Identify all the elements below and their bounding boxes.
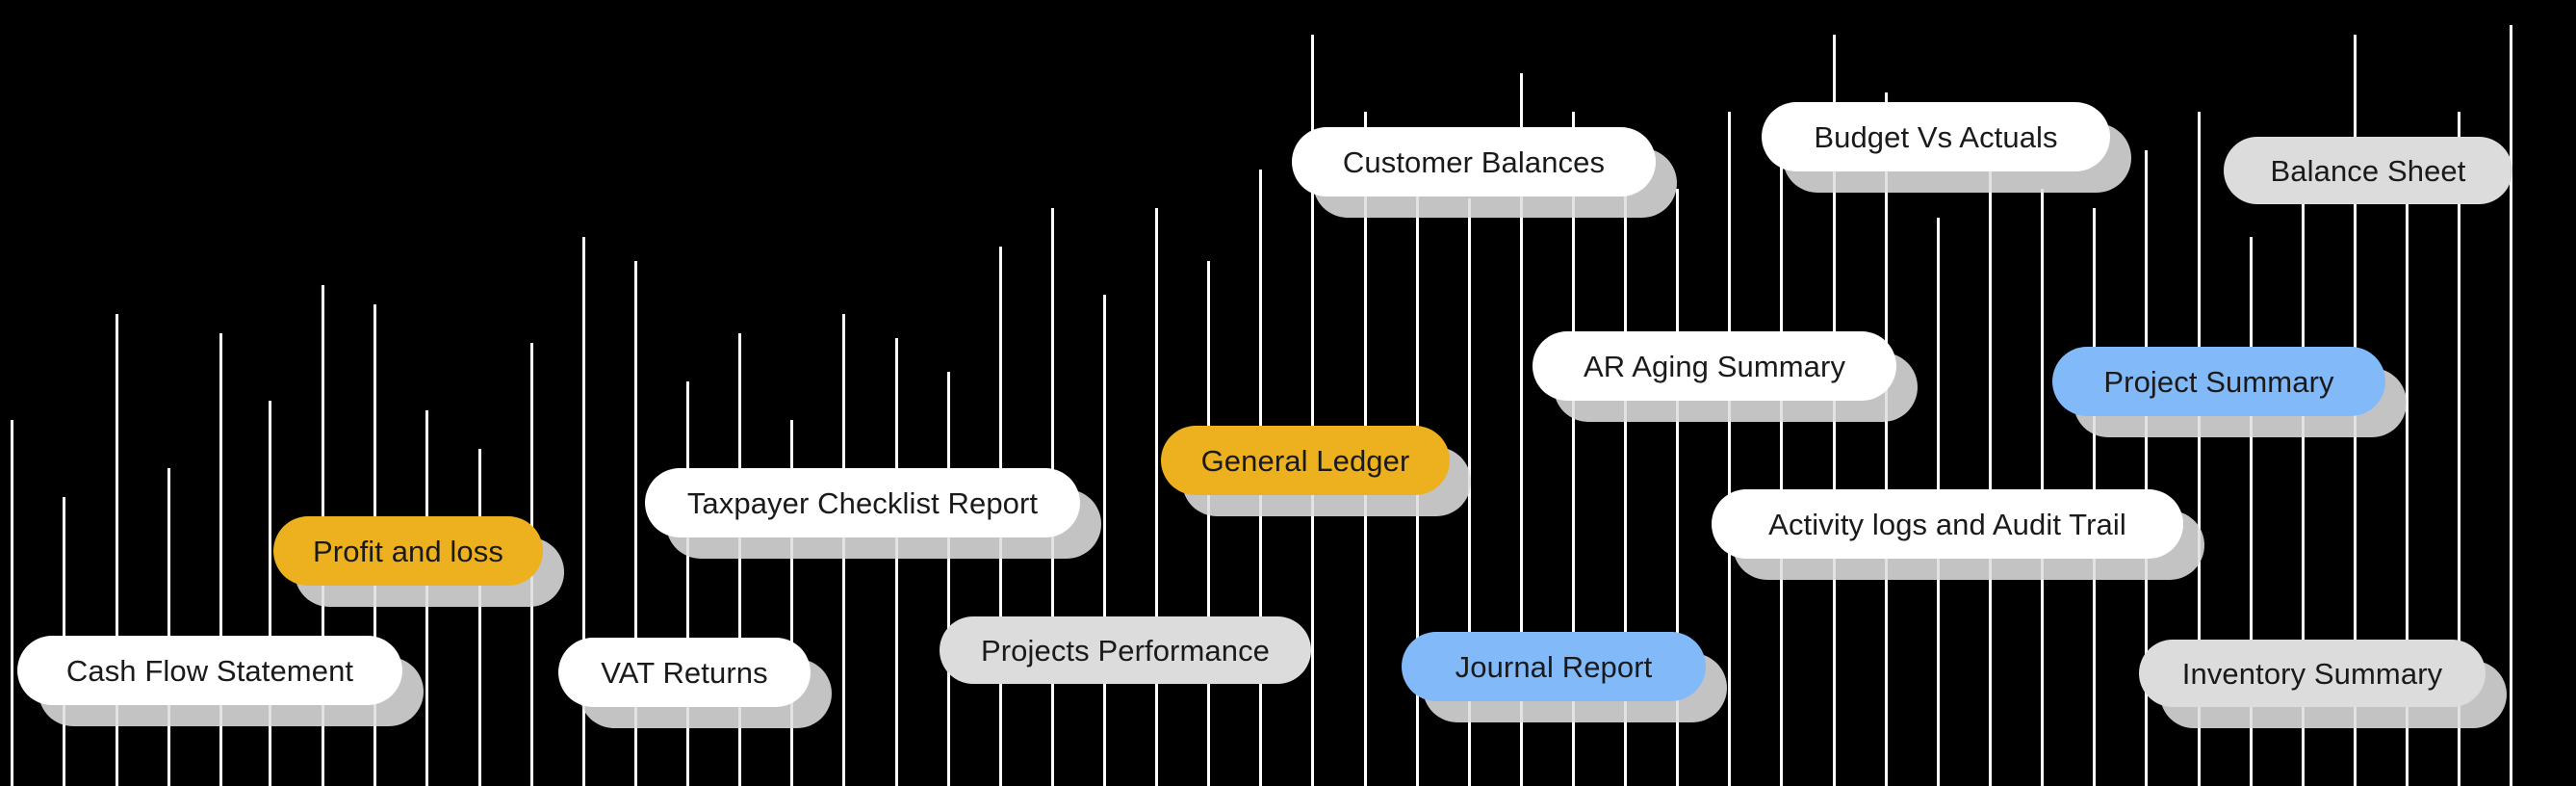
- pill-face[interactable]: Profit and loss: [273, 516, 543, 586]
- pill-label: Customer Balances: [1343, 147, 1605, 177]
- pill-label: Journal Report: [1455, 652, 1653, 682]
- pill-general-ledger[interactable]: General Ledger: [1161, 426, 1450, 495]
- pill-projects-performance[interactable]: Projects Performance: [940, 616, 1311, 684]
- pill-label: Project Summary: [2103, 367, 2333, 397]
- pill-journal-report[interactable]: Journal Report: [1402, 632, 1706, 701]
- pill-face[interactable]: Budget Vs Actuals: [1762, 102, 2110, 171]
- pill-label: AR Aging Summary: [1584, 352, 1845, 381]
- pill-face[interactable]: Activity logs and Audit Trail: [1712, 489, 2183, 559]
- pill-label: Balance Sheet: [2271, 156, 2466, 186]
- pill-label: Budget Vs Actuals: [1814, 122, 2057, 152]
- pill-face[interactable]: Journal Report: [1402, 632, 1706, 701]
- pill-label: Profit and loss: [313, 537, 503, 566]
- pill-cloud-canvas: Cash Flow StatementProfit and lossVAT Re…: [0, 0, 2576, 786]
- pill-label: Activity logs and Audit Trail: [1768, 510, 2126, 539]
- pill-label: Taxpayer Checklist Report: [687, 488, 1038, 518]
- pill-face[interactable]: Customer Balances: [1292, 127, 1656, 196]
- pill-inventory-summary[interactable]: Inventory Summary: [2139, 640, 2486, 707]
- pill-balance-sheet[interactable]: Balance Sheet: [2224, 137, 2512, 204]
- pill-label: VAT Returns: [601, 658, 767, 688]
- pill-profit-and-loss[interactable]: Profit and loss: [273, 516, 543, 586]
- pill-vat-returns[interactable]: VAT Returns: [558, 638, 811, 707]
- pill-budget-vs-actuals[interactable]: Budget Vs Actuals: [1762, 102, 2110, 171]
- pill-face[interactable]: General Ledger: [1161, 426, 1450, 495]
- pill-group: Cash Flow StatementProfit and lossVAT Re…: [0, 0, 2576, 786]
- pill-face[interactable]: AR Aging Summary: [1533, 331, 1896, 401]
- pill-activity-logs-and-audit-trail[interactable]: Activity logs and Audit Trail: [1712, 489, 2183, 559]
- pill-project-summary[interactable]: Project Summary: [2052, 347, 2385, 416]
- pill-face[interactable]: VAT Returns: [558, 638, 811, 707]
- pill-taxpayer-checklist-report[interactable]: Taxpayer Checklist Report: [645, 468, 1080, 537]
- pill-face[interactable]: Project Summary: [2052, 347, 2385, 416]
- pill-face[interactable]: Cash Flow Statement: [17, 636, 402, 705]
- pill-label: Projects Performance: [981, 636, 1270, 666]
- pill-face[interactable]: Taxpayer Checklist Report: [645, 468, 1080, 537]
- pill-face[interactable]: Inventory Summary: [2139, 640, 2486, 707]
- pill-cash-flow-statement[interactable]: Cash Flow Statement: [17, 636, 402, 705]
- pill-customer-balances[interactable]: Customer Balances: [1292, 127, 1656, 196]
- pill-face[interactable]: Projects Performance: [940, 616, 1311, 684]
- pill-face[interactable]: Balance Sheet: [2224, 137, 2512, 204]
- pill-label: General Ledger: [1201, 446, 1410, 476]
- pill-ar-aging-summary[interactable]: AR Aging Summary: [1533, 331, 1896, 401]
- pill-label: Inventory Summary: [2182, 659, 2442, 689]
- pill-label: Cash Flow Statement: [66, 656, 353, 686]
